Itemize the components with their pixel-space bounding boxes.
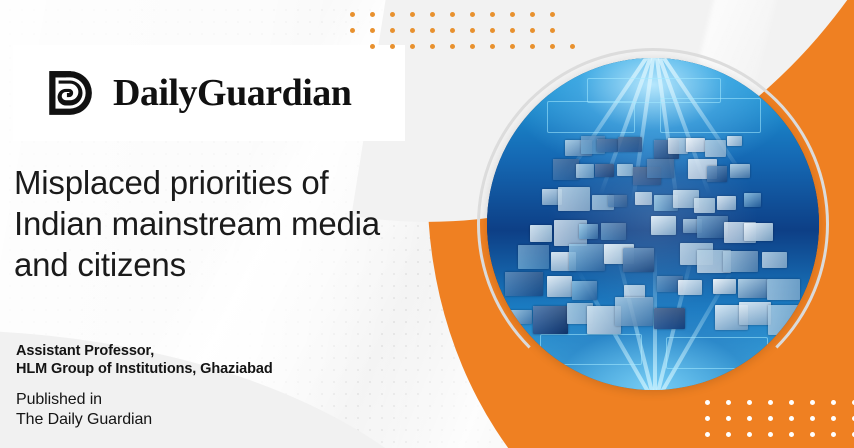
decorative-dot <box>450 28 455 33</box>
decorative-dot <box>831 400 836 405</box>
media-thumbnail <box>572 281 596 300</box>
media-thumbnail <box>618 137 642 152</box>
media-thumbnail <box>651 216 676 236</box>
publication-credit: Published in The Daily Guardian <box>16 390 152 430</box>
decorative-dot <box>831 432 836 437</box>
decorative-dot <box>490 44 495 49</box>
decorative-dot <box>705 400 710 405</box>
media-thumbnail <box>767 279 800 300</box>
media-thumbnail <box>762 252 787 267</box>
decorative-dot <box>410 28 415 33</box>
decorative-dot <box>370 44 375 49</box>
decorative-dot <box>768 400 773 405</box>
media-thumbnail <box>601 223 625 240</box>
media-thumbnail <box>723 251 758 272</box>
decorative-dot <box>810 432 815 437</box>
decorative-dot <box>768 432 773 437</box>
media-thumbnail <box>558 187 590 211</box>
decorative-dot <box>410 44 415 49</box>
screen-outline <box>547 101 635 133</box>
media-thumbnail <box>668 138 689 154</box>
affiliation-institution: HLM Group of Institutions, Ghaziabad <box>16 360 273 378</box>
decorative-dot <box>390 44 395 49</box>
decorative-dot <box>789 416 794 421</box>
author-affiliation: Assistant Professor, HLM Group of Instit… <box>16 342 273 378</box>
media-thumbnail <box>647 159 675 179</box>
media-thumbnail <box>608 195 628 207</box>
affiliation-role: Assistant Professor, <box>16 342 273 360</box>
decorative-dot <box>470 12 475 17</box>
decorative-dot <box>470 28 475 33</box>
decorative-dot <box>430 28 435 33</box>
decorative-dot <box>705 432 710 437</box>
media-thumbnail <box>569 244 605 271</box>
decorative-dot <box>810 416 815 421</box>
brand-wordmark: DailyGuardian <box>113 71 351 115</box>
published-publication: The Daily Guardian <box>16 410 152 430</box>
decorative-dot <box>510 12 515 17</box>
poster-canvas: DailyGuardian Misplaced priorities of In… <box>0 0 854 448</box>
decorative-dot <box>510 28 515 33</box>
decorative-dot <box>430 44 435 49</box>
media-thumbnail <box>707 166 727 182</box>
decorative-dot <box>350 28 355 33</box>
media-thumbnail <box>579 224 598 239</box>
media-thumbnail <box>730 164 750 178</box>
decorative-dot <box>550 12 555 17</box>
media-thumbnail <box>744 193 761 207</box>
decorative-dots-top <box>350 12 580 62</box>
media-thumbnail <box>530 225 552 241</box>
media-thumbnail <box>597 139 618 152</box>
decorative-dot <box>726 416 731 421</box>
brand-logo-card: DailyGuardian <box>13 45 405 141</box>
decorative-dot <box>490 12 495 17</box>
media-thumbnail <box>623 248 654 272</box>
media-wall-image <box>487 58 819 390</box>
decorative-dot <box>350 12 355 17</box>
decorative-dot <box>430 12 435 17</box>
headline-line-2: Indian mainstream media <box>14 203 434 244</box>
media-thumbnail <box>705 140 726 157</box>
decorative-dot <box>530 44 535 49</box>
media-thumbnail <box>694 198 715 214</box>
media-thumbnail <box>624 285 645 298</box>
media-thumbnail <box>738 279 767 298</box>
decorative-dot <box>705 416 710 421</box>
media-thumbnail <box>717 196 736 211</box>
decorative-dot <box>726 400 731 405</box>
decorative-dot <box>370 28 375 33</box>
media-thumbnail <box>615 297 653 326</box>
media-thumbnail <box>508 310 532 324</box>
media-thumbnail <box>547 276 573 296</box>
media-thumbnail <box>744 223 773 241</box>
decorative-dot <box>831 416 836 421</box>
media-thumbnail <box>576 164 594 177</box>
screen-outline <box>587 78 722 103</box>
page-title: Misplaced priorities of Indian mainstrea… <box>14 162 434 285</box>
media-thumbnail <box>595 164 614 178</box>
media-thumbnail <box>678 280 702 296</box>
decorative-dot <box>450 44 455 49</box>
media-thumbnail <box>713 279 736 294</box>
published-label: Published in <box>16 390 152 410</box>
decorative-dots-bottom <box>705 400 854 448</box>
decorative-dot <box>747 432 752 437</box>
decorative-dot <box>810 400 815 405</box>
media-thumbnail <box>505 272 543 297</box>
decorative-dot <box>470 44 475 49</box>
headline-line-1: Misplaced priorities of <box>14 162 434 203</box>
decorative-dot <box>789 400 794 405</box>
decorative-dot <box>370 12 375 17</box>
decorative-dot <box>510 44 515 49</box>
media-thumbnail <box>727 136 742 146</box>
media-thumbnail <box>768 305 805 335</box>
decorative-dot <box>550 28 555 33</box>
media-thumbnail <box>635 192 652 205</box>
daily-guardian-d-monogram-icon <box>43 67 95 119</box>
screen-outline <box>540 334 642 366</box>
media-thumbnail <box>617 164 633 176</box>
decorative-dot <box>390 28 395 33</box>
media-thumbnail <box>654 308 684 330</box>
decorative-dot <box>789 432 794 437</box>
decorative-dot <box>726 432 731 437</box>
decorative-dot <box>450 12 455 17</box>
media-thumbnail <box>533 306 568 335</box>
decorative-dot <box>530 28 535 33</box>
decorative-dot <box>530 12 535 17</box>
decorative-dot <box>570 44 575 49</box>
screen-outline <box>666 337 768 369</box>
decorative-dot <box>490 28 495 33</box>
decorative-dot <box>410 12 415 17</box>
media-thumbnail <box>518 245 549 269</box>
decorative-dot <box>768 416 773 421</box>
decorative-dot <box>390 12 395 17</box>
media-thumbnail <box>739 302 771 325</box>
media-thumbnail <box>686 138 705 152</box>
screen-outline <box>660 98 762 133</box>
decorative-dot <box>747 416 752 421</box>
headline-line-3: and citizens <box>14 244 434 285</box>
media-thumbnail <box>697 216 728 238</box>
decorative-dot <box>747 400 752 405</box>
decorative-dot <box>550 44 555 49</box>
